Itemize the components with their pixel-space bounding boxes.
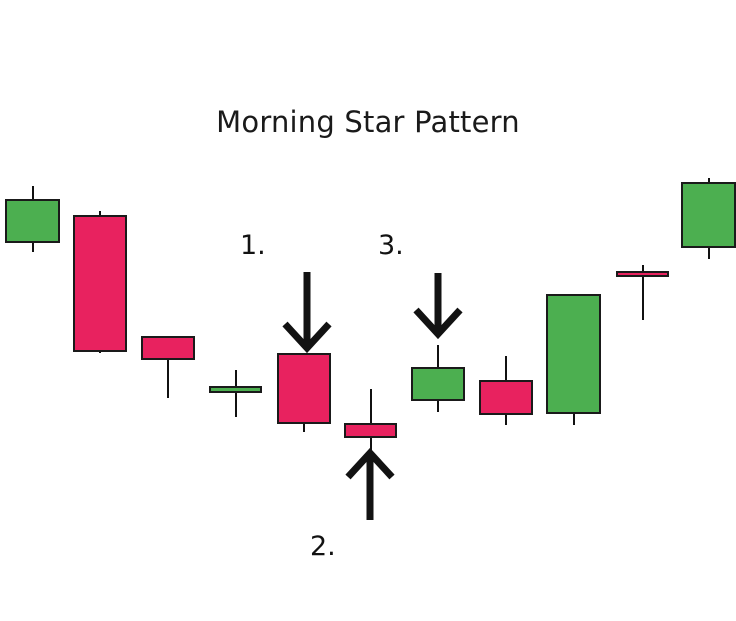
annotation-label-step-2: 2. — [310, 533, 336, 560]
candlestick-wick — [235, 370, 237, 417]
candlestick-body — [546, 294, 601, 414]
annotation-arrow-down-step-1 — [284, 272, 330, 348]
candlestick-body — [411, 367, 465, 401]
candlestick-chart: Morning Star Pattern 1.2.3. — [0, 0, 736, 621]
candlestick-body — [5, 199, 60, 243]
candlestick-body — [681, 182, 736, 248]
candlestick-body — [73, 215, 127, 352]
annotation-label-step-3: 3. — [378, 232, 404, 259]
candlestick-body — [277, 353, 331, 424]
candlestick-wick — [370, 389, 372, 450]
annotation-arrow-up-step-2 — [347, 453, 393, 520]
candlestick-body — [344, 423, 397, 438]
candlestick-body — [616, 271, 669, 277]
candlestick-body — [209, 386, 262, 393]
annotation-label-step-1: 1. — [240, 232, 266, 259]
candlestick-body — [141, 336, 195, 360]
annotation-arrow-down-step-3 — [415, 273, 461, 334]
chart-title: Morning Star Pattern — [0, 105, 736, 139]
candlestick-body — [479, 380, 533, 415]
